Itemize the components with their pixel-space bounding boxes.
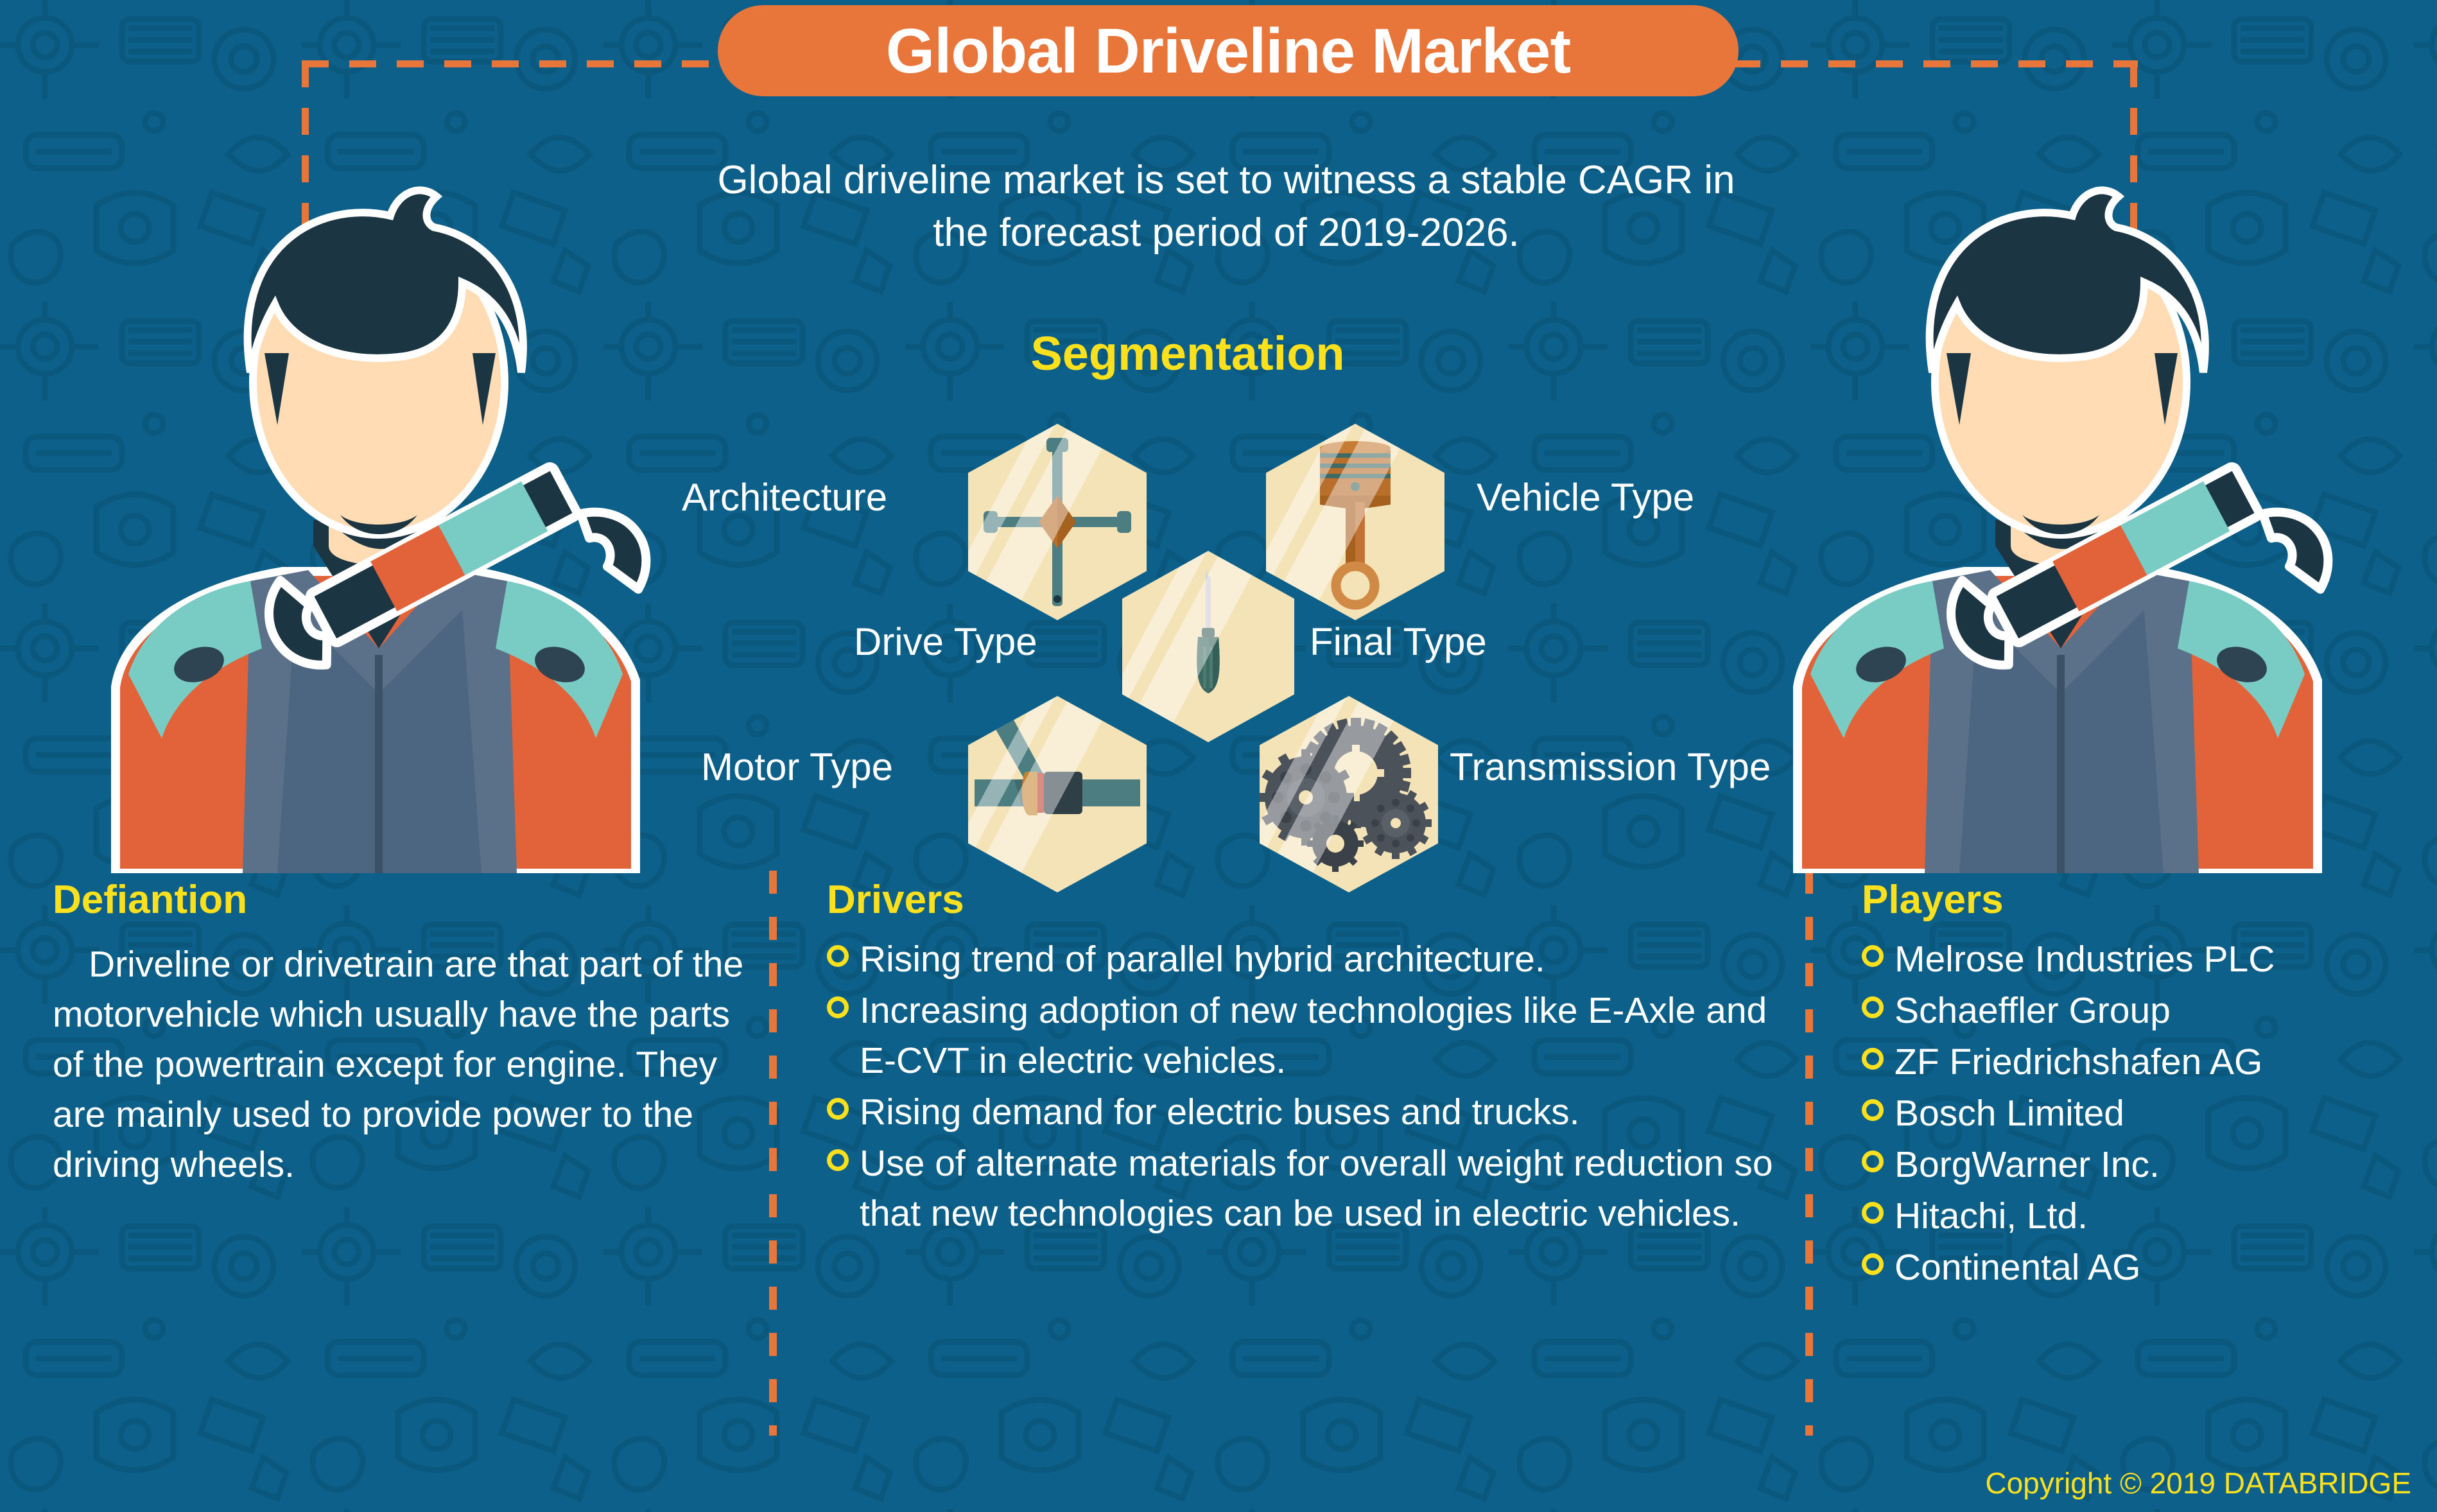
drivers-item-text: Rising trend of parallel hybrid architec…	[860, 934, 1545, 984]
bullet-ring-icon	[827, 945, 849, 967]
divider-drivers-players	[1805, 871, 1813, 1436]
list-item[interactable]: Hitachi, Ltd.	[1862, 1191, 2427, 1241]
segmentation-heading: Segmentation	[873, 326, 1502, 381]
bullet-ring-icon	[1862, 1099, 1884, 1121]
players-item-text: ZF Friedrichshafen AG	[1895, 1037, 2262, 1087]
drivers-heading: Drivers	[827, 877, 1777, 923]
screwdriver-icon	[1122, 551, 1294, 742]
segmentation-label-architecture: Architecture	[682, 475, 887, 519]
segmentation-label-vehicle-type: Vehicle Type	[1477, 475, 1694, 519]
connector-line-right-horizontal	[1733, 60, 2138, 67]
segmentation-label-transmission-type: Transmission Type	[1450, 745, 1771, 789]
divider-definition-drivers	[769, 871, 777, 1436]
bullet-ring-icon	[827, 1098, 849, 1120]
mechanic-character-left	[39, 161, 719, 873]
players-list: Melrose Industries PLC Schaeffler Group …	[1862, 934, 2427, 1293]
gears-icon	[1260, 696, 1438, 892]
segmentation-label-motor-type: Motor Type	[701, 745, 893, 789]
segmentation-label-final-type: Final Type	[1310, 620, 1487, 664]
drivers-item-text: Use of alternate materials for overall w…	[860, 1138, 1777, 1238]
drivers-item-text: Rising demand for electric buses and tru…	[860, 1087, 1580, 1137]
segmentation-hex-center[interactable]	[1122, 551, 1294, 742]
players-column: Players Melrose Industries PLC Schaeffle…	[1862, 877, 2427, 1294]
bullet-ring-icon	[827, 1149, 849, 1171]
players-item-text: Schaeffler Group	[1895, 986, 2171, 1036]
segmentation-hex-architecture[interactable]	[968, 424, 1147, 620]
definition-column: Defiantion Driveline or drivetrain are t…	[53, 877, 746, 1190]
drivers-list: Rising trend of parallel hybrid architec…	[827, 934, 1777, 1238]
list-item[interactable]: Melrose Industries PLC	[1862, 934, 2427, 984]
players-item-text: BorgWarner Inc.	[1895, 1140, 2160, 1190]
connector-line-left-horizontal	[302, 60, 725, 67]
bullet-ring-icon	[1862, 1048, 1884, 1070]
list-item[interactable]: Increasing adoption of new technologies …	[827, 986, 1777, 1086]
players-item-text: Bosch Limited	[1895, 1088, 2124, 1138]
list-item[interactable]: Use of alternate materials for overall w…	[827, 1138, 1777, 1238]
bullet-ring-icon	[1862, 1151, 1884, 1172]
list-item[interactable]: Rising trend of parallel hybrid architec…	[827, 934, 1777, 984]
copyright-notice: Copyright © 2019 DATABRIDGE	[1985, 1466, 2411, 1500]
list-item[interactable]: Rising demand for electric buses and tru…	[827, 1087, 1777, 1137]
segmentation-hex-vehicle-type[interactable]	[1266, 424, 1444, 620]
lug-wrench-icon	[968, 424, 1147, 620]
definition-body: Driveline or drivetrain are that part of…	[53, 939, 746, 1190]
list-item[interactable]: BorgWarner Inc.	[1862, 1140, 2427, 1190]
list-item[interactable]: Schaeffler Group	[1862, 986, 2427, 1036]
segmentation-label-drive-type: Drive Type	[854, 620, 1037, 664]
list-item[interactable]: Bosch Limited	[1862, 1088, 2427, 1138]
bullet-ring-icon	[1862, 945, 1884, 967]
bullet-ring-icon	[1862, 1202, 1884, 1224]
piston-icon	[1266, 424, 1444, 620]
page-title: Global Driveline Market	[886, 15, 1570, 87]
bullet-ring-icon	[1862, 996, 1884, 1018]
segmentation-hex-motor-type[interactable]	[968, 696, 1147, 892]
players-item-text: Melrose Industries PLC	[1895, 934, 2275, 984]
players-item-text: Hitachi, Ltd.	[1895, 1191, 2088, 1241]
segmentation-hex-transmission-type[interactable]	[1260, 696, 1438, 892]
players-heading: Players	[1862, 877, 2427, 923]
page-subtitle: Global driveline market is set to witnes…	[693, 154, 1759, 259]
list-item[interactable]: ZF Friedrichshafen AG	[1862, 1037, 2427, 1087]
bullet-ring-icon	[1862, 1253, 1884, 1275]
mechanic-character-right	[1721, 161, 2401, 873]
list-item[interactable]: Continental AG	[1862, 1242, 2427, 1292]
definition-heading: Defiantion	[53, 877, 746, 923]
bullet-ring-icon	[827, 996, 849, 1018]
players-item-text: Continental AG	[1895, 1242, 2140, 1292]
page-title-pill: Global Driveline Market	[718, 5, 1739, 96]
drivers-item-text: Increasing adoption of new technologies …	[860, 986, 1777, 1086]
seatbelt-icon	[968, 696, 1147, 892]
drivers-column: Drivers Rising trend of parallel hybrid …	[827, 877, 1777, 1240]
